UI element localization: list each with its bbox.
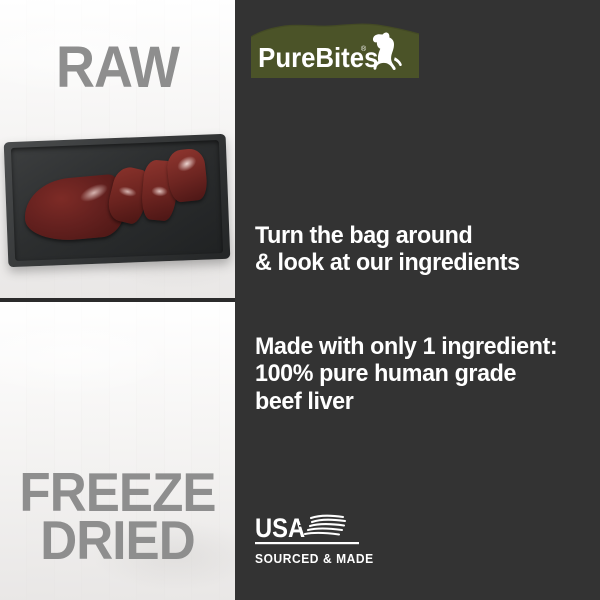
left-comparison-column: RAW FREEZE DRIED (0, 0, 235, 600)
right-message-column: PureBites ® Turn the bag around & look a… (238, 0, 600, 600)
flag-stripes (305, 516, 345, 535)
raw-stage-label: RAW (8, 42, 227, 93)
usa-wordmark: USA (255, 514, 305, 544)
flag-baseline (255, 542, 359, 544)
raw-liver-slice-3 (165, 147, 208, 203)
vertical-divider (235, 0, 238, 600)
slate-serving-board (4, 134, 231, 267)
usa-sourced-made-badge: USA (255, 512, 445, 566)
headline-turn-the-bag: Turn the bag around & look at our ingred… (255, 222, 520, 277)
purebites-logo[interactable]: PureBites ® (249, 23, 421, 79)
usa-badge-subtitle: SOURCED & MADE (255, 552, 437, 566)
svg-text:®: ® (361, 45, 367, 53)
freeze-dried-stage-label: FREEZE DRIED (8, 468, 227, 565)
freeze-dried-stage-panel: FREEZE DRIED (0, 302, 235, 600)
logo-banner-shape: PureBites ® (249, 23, 421, 79)
horizontal-divider (0, 298, 235, 302)
raw-stage-panel: RAW (0, 0, 235, 299)
headline-one-ingredient: Made with only 1 ingredient: 100% pure h… (255, 333, 557, 415)
product-ad-image: RAW FREEZE DRIED (0, 0, 600, 600)
usa-flag-icon: USA (255, 512, 377, 548)
